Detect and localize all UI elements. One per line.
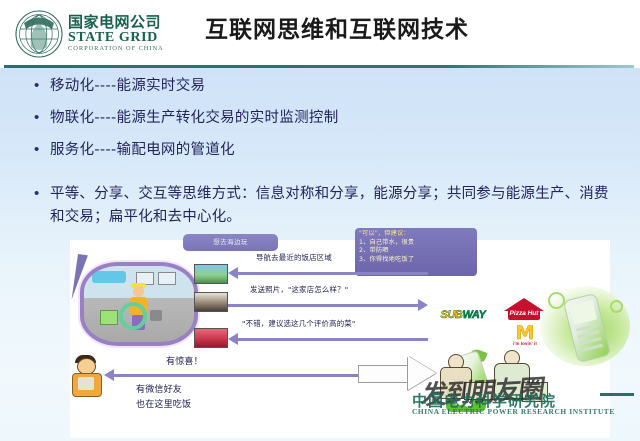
- backpack-shape: [150, 310, 162, 321]
- bullet-text: 移动化----能源实时交易: [50, 76, 205, 97]
- bullet-marker: •: [34, 76, 50, 96]
- pizzahut-logo-text: Pizza Hut: [508, 308, 540, 320]
- teal-accent-dash: [600, 393, 634, 396]
- pool-shape: [92, 271, 126, 283]
- bullet-marker: •: [34, 108, 50, 128]
- decorative-circle-icon: [610, 300, 623, 313]
- arrow-recommend: [228, 332, 428, 346]
- arrow-send-photo: [228, 298, 428, 312]
- bullet-text: 物联化----能源生产转化交易的实时监测控制: [50, 108, 339, 129]
- arrow-label-surprise: 有惊喜！: [166, 354, 203, 367]
- speech-bubble-wish-text: 想去海边玩: [183, 234, 278, 251]
- arrow-shaft: [228, 304, 419, 307]
- list-item-paragraph: • 平等、分享、交互等思维方式：信息对称和分享，能源分享；共同参与能源生产、消费…: [34, 183, 614, 229]
- speech-bubble-wish: 想去海边玩: [183, 234, 278, 251]
- logo-english-name: STATE GRID: [68, 31, 164, 45]
- suggestion-item: 3、你得找地吃饭了: [359, 256, 473, 265]
- beach-thumbnail: [194, 264, 228, 284]
- food-thumbnail: [194, 292, 228, 312]
- slide-header: 国家电网公司 STATE GRID CORPORATION OF CHINA 互…: [0, 0, 640, 68]
- bullet-marker: •: [34, 140, 50, 160]
- head-shape: [133, 286, 144, 297]
- bullet-marker: •: [34, 183, 50, 205]
- wechat-note-line2: 也在这里吃饭: [136, 397, 191, 410]
- phone-keypad: [576, 323, 604, 355]
- scenario-diagram: 想去海边玩 "可以"，但建议： 1、自己带水，很贵 2、带防晒 3、你得找地吃饭…: [70, 240, 610, 438]
- mcdonalds-slogan: i'm lovin' it: [504, 341, 546, 346]
- list-item: • 服务化----输配电网的管道化: [34, 140, 614, 161]
- logo-chinese-name: 国家电网公司: [68, 15, 164, 30]
- wechat-note-line1: 有微信好友: [136, 382, 182, 395]
- traveler-illustration: [80, 262, 198, 346]
- page-title: 互联网思维和互联网技术: [205, 10, 469, 44]
- suggestion-header: "可以"，但建议：: [359, 230, 473, 239]
- arrow-label-send-photo: 发送照片，"这家店怎么样？": [250, 284, 348, 295]
- arrow-surprise: [104, 368, 390, 382]
- watermark-english: CHINA ELECTRIC POWER RESEARCH INSTITUTE: [412, 407, 615, 416]
- logo-english-subtitle: CORPORATION OF CHINA: [68, 46, 164, 53]
- list-item: • 物联化----能源生产转化交易的实时监测控制: [34, 108, 614, 129]
- swim-ring-icon: [119, 302, 147, 330]
- header-divider: [4, 65, 634, 68]
- arrow-shaft: [113, 374, 390, 377]
- arrow-shaft: [237, 338, 428, 341]
- traveler-figure: [128, 286, 150, 332]
- suggestion-item: 2、带防晒: [359, 247, 473, 256]
- decorative-circle-icon: [548, 292, 565, 309]
- arrow-label-navigate: 导航去最近的饭店区域: [256, 252, 332, 263]
- logo-text-block: 国家电网公司 STATE GRID CORPORATION OF CHINA: [68, 15, 164, 53]
- subway-logo: SUBWAY: [428, 306, 498, 323]
- diner-figure-illustration: [67, 356, 107, 400]
- list-item: • 移动化----能源实时交易: [34, 76, 614, 97]
- arrow-shaft: [358, 365, 411, 383]
- window-shape: [158, 272, 176, 285]
- arrow-navigate: [228, 266, 428, 280]
- subway-logo-text: SUBWAY: [440, 309, 485, 321]
- pizzahut-logo: Pizza Hut: [502, 298, 546, 322]
- suitcase-icon: [100, 310, 118, 325]
- phone-screen: [569, 300, 597, 325]
- bullet-text: 服务化----输配电网的管道化: [50, 140, 235, 161]
- state-grid-logo: 国家电网公司 STATE GRID CORPORATION OF CHINA: [14, 7, 190, 61]
- bullet-list: • 移动化----能源实时交易 • 物联化----能源生产转化交易的实时监测控制…: [34, 76, 614, 229]
- slide-canvas: 国家电网公司 STATE GRID CORPORATION OF CHINA 互…: [0, 0, 640, 441]
- arrow-label-recommend: "不错，建议选这几个评价高的菜": [242, 318, 355, 329]
- arrow-shaft: [237, 272, 428, 275]
- dish-thumbnail: [194, 328, 228, 348]
- globe-logo-icon: [14, 9, 64, 59]
- arrow-head-right-icon: [418, 299, 428, 311]
- watermark: 发到朋友圈 中国电力科学研究院 CHINA ELECTRIC POWER RES…: [412, 390, 612, 424]
- paragraph-text: 平等、分享、交互等思维方式：信息对称和分享，能源分享；共同参与能源生产、消费和交…: [50, 183, 610, 229]
- table-shape: [78, 377, 94, 390]
